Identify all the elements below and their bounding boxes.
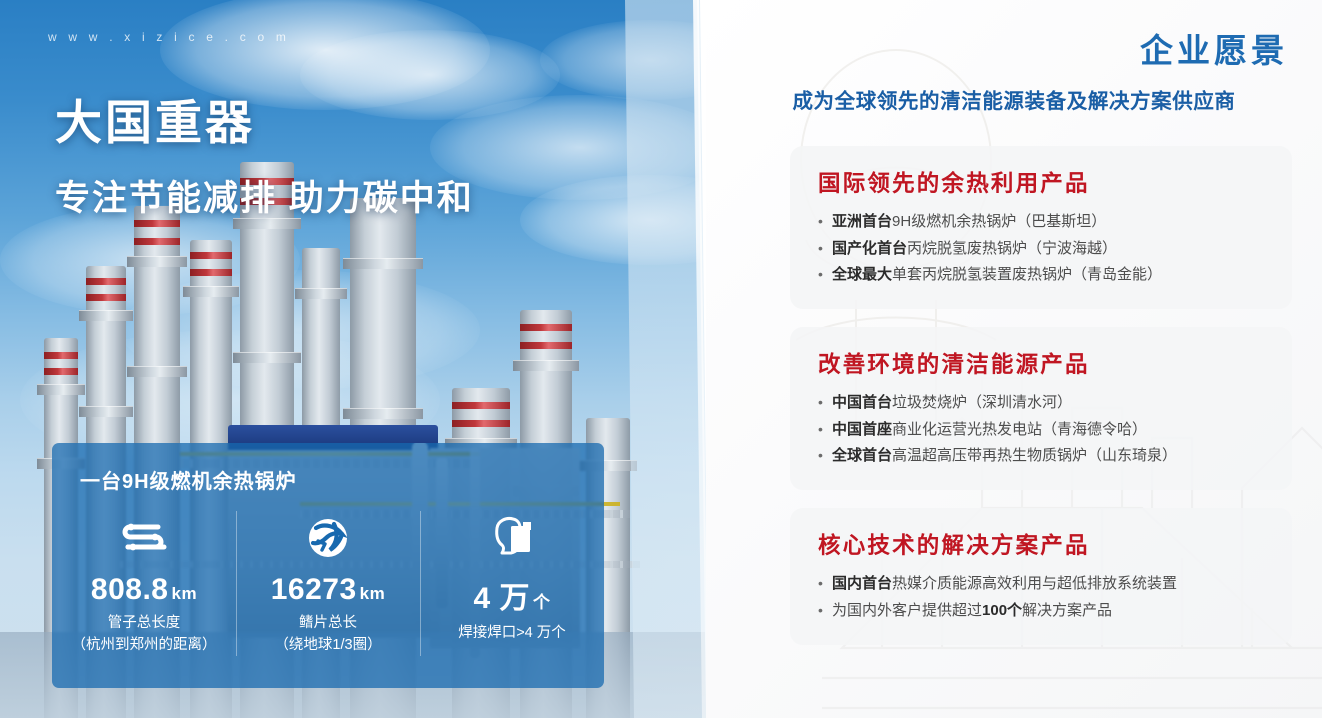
card-clean-energy-products[interactable]: 改善环境的清洁能源产品 中国首台垃圾焚烧炉（深圳清水河） 中国首座商业化运营光热…	[790, 327, 1292, 490]
stat-item: 808.8km 管子总长度 （杭州到郑州的距离）	[52, 505, 236, 685]
cards-container: 国际领先的余热利用产品 亚洲首台9H级燃机余热锅炉（巴基斯坦） 国产化首台丙烷脱…	[706, 146, 1322, 663]
list-item: 国产化首台丙烷脱氢废热锅炉（宁波海越）	[818, 236, 1270, 263]
card-title: 核心技术的解决方案产品	[818, 528, 1270, 560]
globe-icon	[304, 511, 352, 565]
card-core-technology-solutions[interactable]: 核心技术的解决方案产品 国内首台热媒介质能源高效利用与超低排放系统装置 为国内外…	[790, 508, 1292, 644]
card-waste-heat-products[interactable]: 国际领先的余热利用产品 亚洲首台9H级燃机余热锅炉（巴基斯坦） 国产化首台丙烷脱…	[790, 146, 1292, 309]
stats-row: 808.8km 管子总长度 （杭州到郑州的距离）	[52, 505, 604, 685]
left-photo-panel: w w w . x i z i c e . c o m 大国重器 专注节能减排 …	[0, 0, 712, 718]
list-item: 中国首座商业化运营光热发电站（青海德令哈）	[818, 417, 1270, 444]
card-title: 改善环境的清洁能源产品	[818, 347, 1270, 379]
right-panel-header: 企业愿景 成为全球领先的清洁能源装备及解决方案供应商	[706, 0, 1322, 114]
site-watermark: w w w . x i z i c e . c o m	[48, 30, 290, 44]
card-title: 国际领先的余热利用产品	[818, 166, 1270, 198]
headline-secondary: 专注节能减排 助力碳中和	[55, 170, 474, 221]
stat-item: 4 万个 焊接焊口>4 万个	[420, 505, 604, 685]
list-item: 全球最大单套丙烷脱氢装置废热锅炉（青岛金能）	[818, 262, 1270, 289]
welding-helmet-icon	[487, 511, 537, 565]
list-item: 全球首台高温超高压带再热生物质锅炉（山东琦泉）	[818, 443, 1270, 470]
stat-label: 管子总长度 （杭州到郑州的距离）	[72, 613, 217, 657]
stat-value: 808.8km	[91, 573, 197, 607]
page-subtitle: 成为全球领先的清洁能源装备及解决方案供应商	[706, 72, 1322, 114]
pipe-coil-icon	[116, 511, 172, 565]
stat-item: 16273km 鳍片总长 （绕地球1/3圈）	[236, 505, 420, 685]
headline-primary: 大国重器	[55, 95, 474, 150]
right-content-panel: 企业愿景 成为全球领先的清洁能源装备及解决方案供应商 国际领先的余热利用产品 亚…	[706, 0, 1322, 718]
stats-panel-title: 一台9H级燃机余热锅炉	[80, 465, 297, 494]
list-item: 为国内外客户提供超过100个解决方案产品	[818, 598, 1270, 625]
stat-value: 16273km	[271, 573, 386, 607]
list-item: 国内首台热媒介质能源高效利用与超低排放系统装置	[818, 571, 1270, 598]
list-item: 中国首台垃圾焚烧炉（深圳清水河）	[818, 390, 1270, 417]
stats-panel: 一台9H级燃机余热锅炉 808.8km	[52, 443, 604, 688]
page-title: 企业愿景	[706, 0, 1322, 72]
stat-value: 4 万个	[473, 573, 550, 617]
list-item: 亚洲首台9H级燃机余热锅炉（巴基斯坦）	[818, 209, 1270, 236]
stat-label: 焊接焊口>4 万个	[458, 623, 566, 645]
slide-root: w w w . x i z i c e . c o m 大国重器 专注节能减排 …	[0, 0, 1322, 718]
headline-block: 大国重器 专注节能减排 助力碳中和	[55, 95, 474, 221]
stat-label: 鳍片总长 （绕地球1/3圈）	[274, 613, 381, 657]
